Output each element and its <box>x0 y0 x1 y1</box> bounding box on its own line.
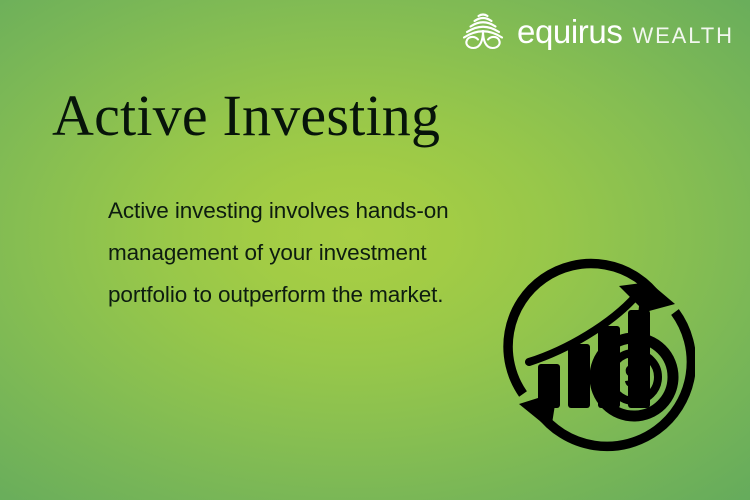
brand-name-secondary: WEALTH <box>632 25 733 47</box>
body-paragraph: Active investing involves hands-on manag… <box>108 190 538 316</box>
brand-wordmark: equirus WEALTH <box>517 15 734 48</box>
coin-currency-symbol: $ <box>625 358 644 396</box>
slide-canvas: equirus WEALTH Active Investing Active i… <box>0 0 750 500</box>
investment-growth-cycle-icon: $ <box>495 252 695 452</box>
brand-name-primary: equirus <box>517 15 622 48</box>
brand-lockup: equirus WEALTH <box>458 11 734 51</box>
body-line: Active investing involves hands-on <box>108 190 538 232</box>
dollar-coin: $ <box>595 338 673 416</box>
body-line: management of your investment <box>108 232 538 274</box>
body-line: portfolio to outperform the market. <box>108 274 538 316</box>
page-title: Active Investing <box>52 84 440 148</box>
equirus-banyan-tree-logo-icon <box>458 11 508 51</box>
